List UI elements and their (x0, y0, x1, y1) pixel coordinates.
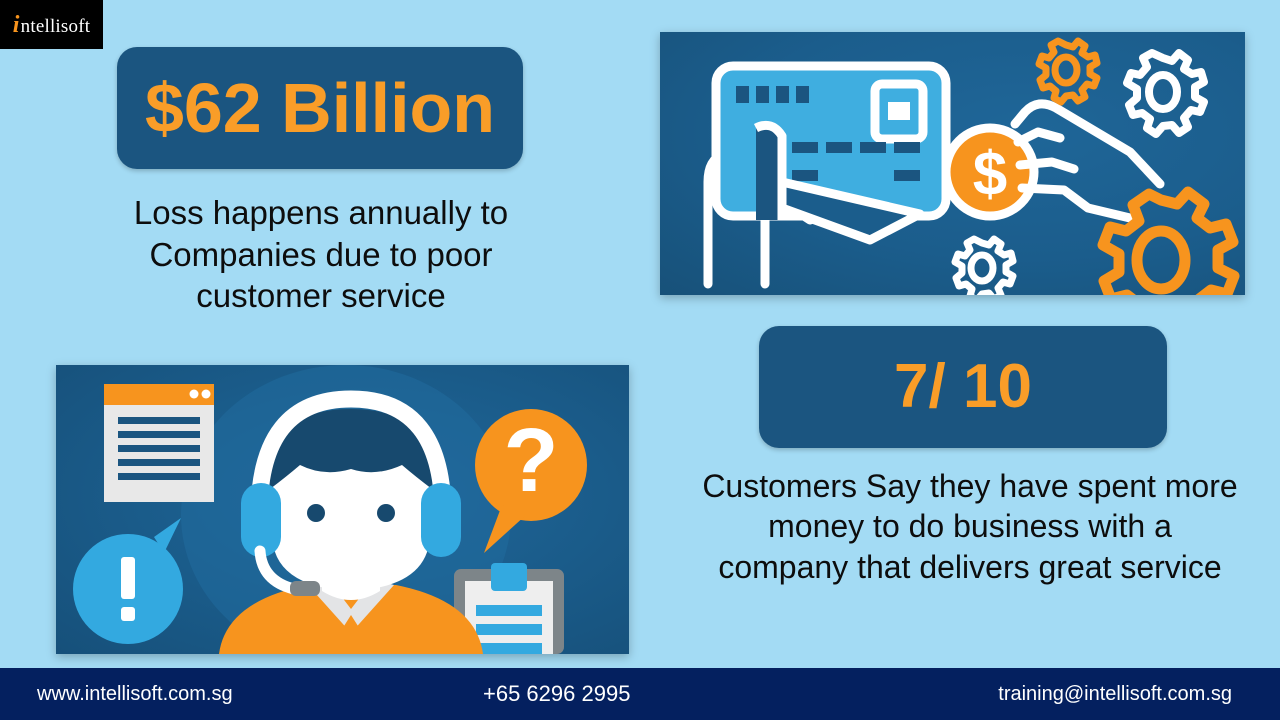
payment-illustration-panel: $ (660, 32, 1245, 295)
stat-caption-spending: Customers Say they have spent more money… (700, 466, 1240, 587)
stat-value-loss-amount: $62 Billion (145, 73, 495, 143)
footer-email[interactable]: training@intellisoft.com.sg (998, 683, 1232, 706)
document-window-icon (104, 384, 214, 502)
svg-text:?: ? (504, 411, 559, 511)
gear-large-orange (1103, 192, 1234, 295)
alert-speech-bubble-icon (73, 518, 183, 644)
stat-caption-loss: Loss happens annually to Companies due t… (86, 192, 556, 317)
gear-small-white (955, 239, 1013, 295)
infographic-slide: intellisoft $62 Billion Loss happens ann… (0, 0, 1280, 720)
stat-pill-loss-amount: $62 Billion (117, 47, 523, 169)
stat-pill-customer-ratio: 7/ 10 (759, 326, 1167, 448)
contact-footer: www.intellisoft.com.sg +65 6296 2995 tra… (0, 668, 1280, 720)
hand-credit-card-gears-icon: $ (660, 32, 1245, 295)
svg-text:$: $ (973, 140, 1007, 209)
logo-wordmark: intellisoft (13, 13, 90, 37)
gear-small-orange (1039, 41, 1097, 102)
customer-service-agent-icon: ? (56, 365, 629, 654)
agent-eye-left (307, 504, 325, 522)
footer-phone[interactable]: +65 6296 2995 (483, 681, 630, 707)
footer-website[interactable]: www.intellisoft.com.sg (37, 683, 233, 706)
intellisoft-logo[interactable]: intellisoft (0, 0, 103, 49)
stat-value-customer-ratio: 7/ 10 (894, 356, 1032, 418)
agent-eye-right (377, 504, 395, 522)
logo-initial: i (13, 12, 21, 38)
headset-mic (290, 581, 320, 596)
logo-rest: ntellisoft (21, 16, 91, 37)
headset-earcup-right (421, 483, 461, 557)
support-illustration-panel: ? (56, 365, 629, 654)
gear-medium-white (1127, 53, 1204, 134)
